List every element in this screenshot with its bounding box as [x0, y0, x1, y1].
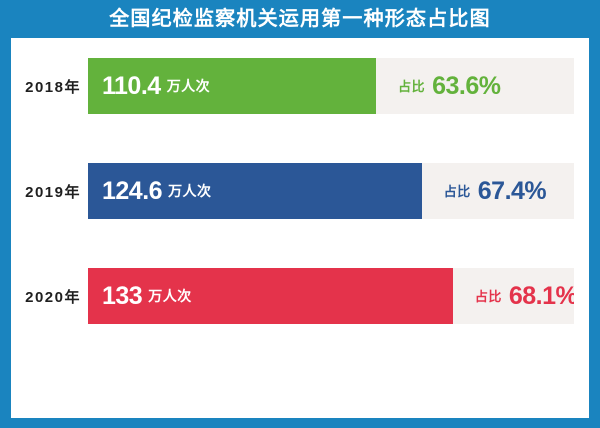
bar-row-2020: 2020年 133 万人次 占比 68.1%	[11, 268, 589, 324]
chart-header: 全国纪检监察机关运用第一种形态占比图	[0, 0, 600, 38]
bar-fill-2020: 133 万人次	[88, 268, 453, 324]
ratio-label-2020: 占比	[475, 290, 502, 303]
year-label-2019: 2019年	[11, 163, 88, 219]
year-label-2020: 2020年	[11, 268, 88, 324]
bar-fill-2018: 110.4 万人次	[88, 58, 376, 114]
bar-rows: 2018年 110.4 万人次 占比 63.6% 2019年	[11, 58, 589, 324]
bar-value-2020: 133	[102, 284, 142, 309]
infographic-chart: 全国纪检监察机关运用第一种形态占比图 2018年 110.4 万人次 占比 63…	[0, 0, 600, 428]
ratio-value-2020: 68.1%	[509, 284, 574, 309]
bar-value-2018: 110.4	[102, 74, 161, 99]
year-label-2018: 2018年	[11, 58, 88, 114]
ratio-value-2019: 67.4%	[478, 179, 546, 204]
bar-track-2020: 133 万人次 占比 68.1%	[88, 268, 574, 324]
bar-unit-2018: 万人次	[167, 79, 211, 93]
bar-fill-2019: 124.6 万人次	[88, 163, 422, 219]
chart-panel: 2018年 110.4 万人次 占比 63.6% 2019年	[11, 38, 589, 418]
ratio-value-2018: 63.6%	[432, 74, 500, 99]
bar-value-2019: 124.6	[102, 179, 162, 204]
ratio-label-2019: 占比	[444, 185, 471, 198]
bar-unit-2019: 万人次	[168, 184, 212, 198]
ratio-group-2020: 占比 68.1%	[475, 268, 574, 324]
ratio-label-2018: 占比	[398, 80, 425, 93]
bar-track-2018: 110.4 万人次 占比 63.6%	[88, 58, 574, 114]
bar-row-2018: 2018年 110.4 万人次 占比 63.6%	[11, 58, 589, 114]
bar-unit-2020: 万人次	[148, 289, 192, 303]
page-title: 全国纪检监察机关运用第一种形态占比图	[109, 9, 491, 29]
ratio-group-2018: 占比 63.6%	[398, 58, 500, 114]
bar-row-2019: 2019年 124.6 万人次 占比 67.4%	[11, 163, 589, 219]
bar-track-2019: 124.6 万人次 占比 67.4%	[88, 163, 574, 219]
ratio-group-2019: 占比 67.4%	[444, 163, 546, 219]
